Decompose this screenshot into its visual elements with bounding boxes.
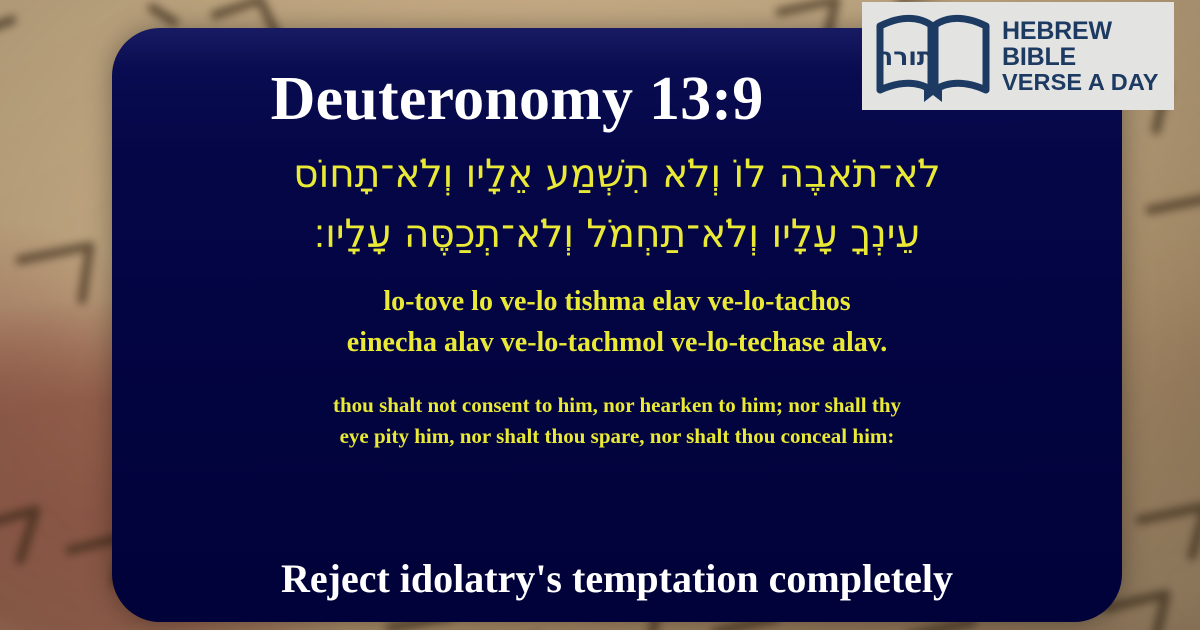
- brand-line-3: VERSE A DAY: [1002, 70, 1159, 94]
- brand-line-1: HEBREW: [1002, 18, 1159, 44]
- transliteration-text: lo-tove lo ve-lo tishma elav ve-lo-tacho…: [177, 282, 1057, 364]
- open-book-icon: תורה: [874, 8, 992, 104]
- verse-tagline: Reject idolatry's temptation completely: [112, 558, 1122, 600]
- hebrew-line-1: לֹא־תֹאבֶה לוֹ וְלֹא תִשְׁמַע אֵלָיו וְל…: [147, 145, 1087, 204]
- transliteration-line-2: einecha alav ve-lo-tachmol ve-lo-techase…: [177, 323, 1057, 364]
- english-translation-text: thou shalt not consent to him, nor heark…: [197, 390, 1037, 454]
- verse-image-canvas: Deuteronomy 13:9 לֹא־תֹאבֶה לוֹ וְלֹא תִ…: [0, 0, 1200, 630]
- translation-line-1: thou shalt not consent to him, nor heark…: [197, 390, 1037, 422]
- transliteration-line-1: lo-tove lo ve-lo tishma elav ve-lo-tacho…: [177, 282, 1057, 323]
- translation-line-2: eye pity him, nor shalt thou spare, nor …: [197, 421, 1037, 453]
- hebrew-line-2: עֵינְךָ עָלָיו וְלֹא־תַחְמֹל וְלֹא־תְכַס…: [147, 205, 1087, 264]
- brand-wordmark: HEBREW BIBLE VERSE A DAY: [1002, 18, 1159, 94]
- brand-line-2: BIBLE: [1002, 44, 1159, 70]
- brand-logo-badge: תורה HEBREW BIBLE VERSE A DAY: [862, 2, 1174, 110]
- svg-text:תורה: תורה: [876, 42, 934, 71]
- hebrew-verse-text: לֹא־תֹאבֶה לוֹ וְלֹא תִשְׁמַע אֵלָיו וְל…: [147, 145, 1087, 264]
- verse-card-panel: Deuteronomy 13:9 לֹא־תֹאבֶה לוֹ וְלֹא תִ…: [112, 28, 1122, 622]
